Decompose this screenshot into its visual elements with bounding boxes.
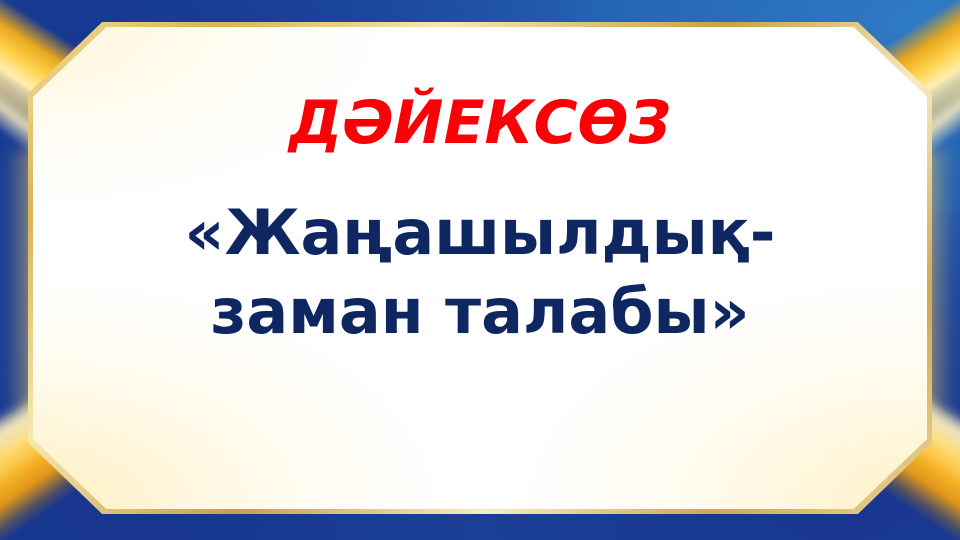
panel-content: ДӘЙЕКСӨЗ «Жаңашылдық- заман талабы»	[33, 27, 927, 509]
slide: ДӘЙЕКСӨЗ «Жаңашылдық- заман талабы»	[0, 0, 960, 540]
content-panel: ДӘЙЕКСӨЗ «Жаңашылдық- заман талабы»	[28, 22, 932, 514]
slide-heading: ДӘЙЕКСӨЗ	[289, 93, 671, 153]
panel-surface: ДӘЙЕКСӨЗ «Жаңашылдық- заман талабы»	[33, 27, 927, 509]
slide-quote: «Жаңашылдық- заман талабы»	[185, 193, 776, 352]
slide-quote-line-1: «Жаңашылдық-	[185, 193, 776, 272]
slide-quote-line-2: заман талабы»	[185, 272, 776, 351]
